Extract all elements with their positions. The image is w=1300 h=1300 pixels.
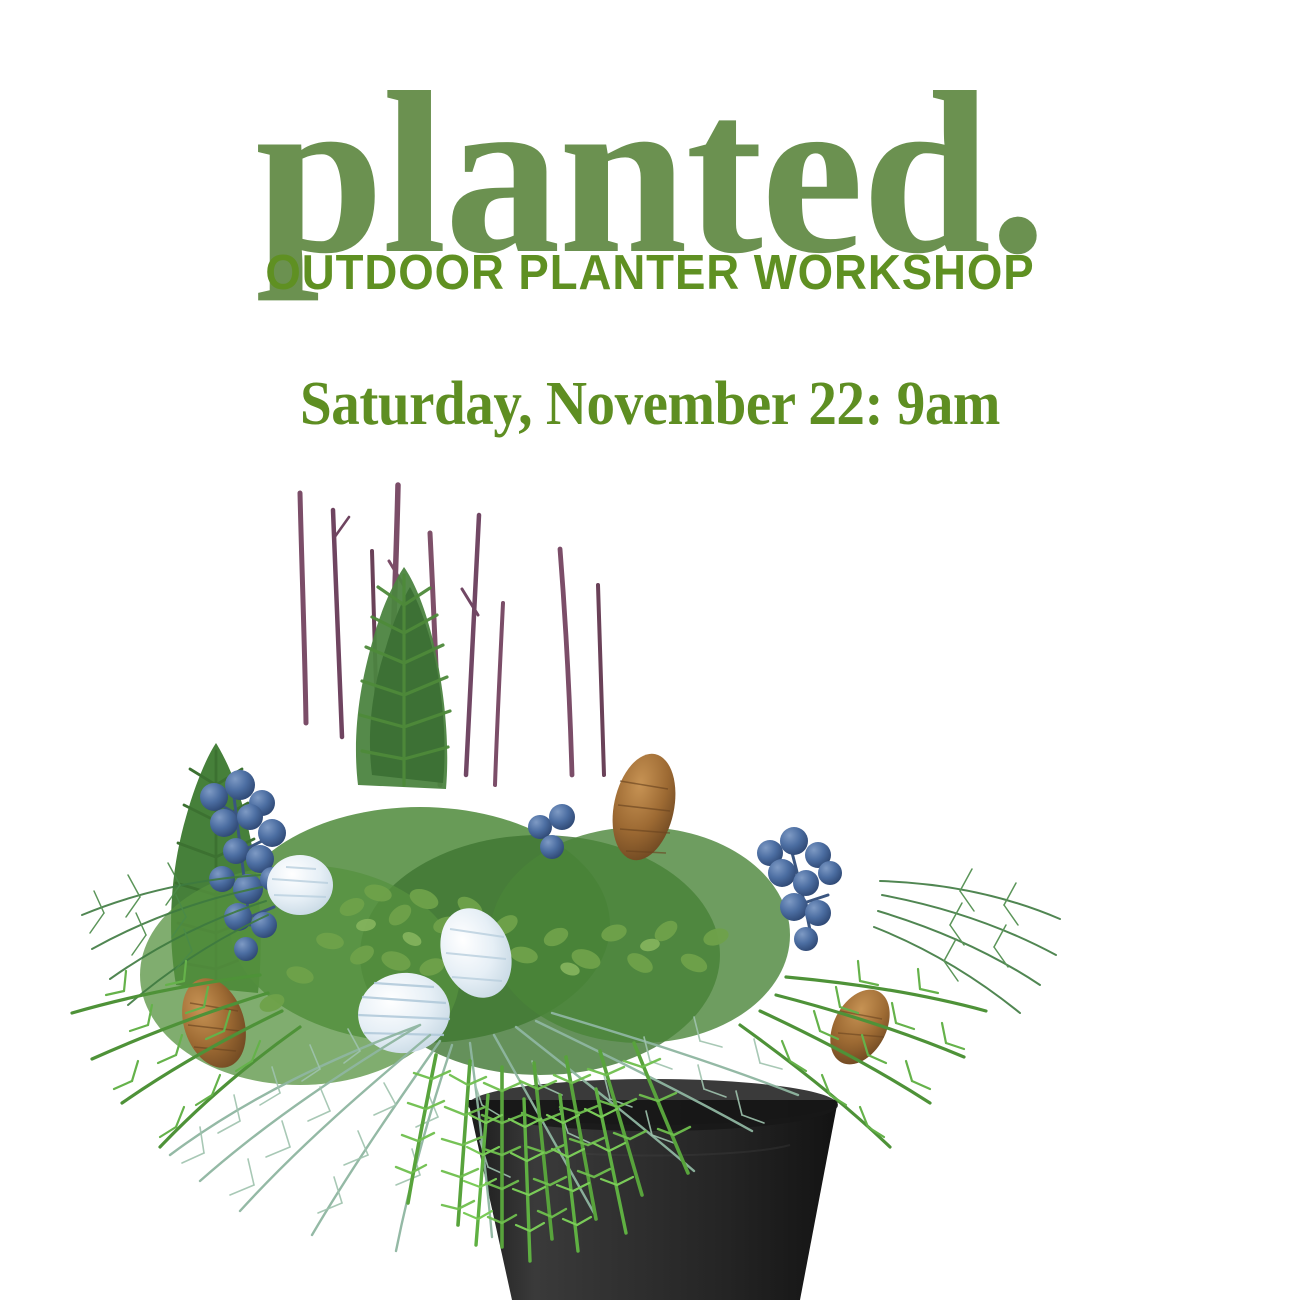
poster-canvas: planted. OUTDOOR PLANTER WORKSHOP Saturd…	[0, 0, 1300, 1300]
pinecone-painted-small	[267, 855, 333, 915]
event-date-line: Saturday, November 22: 9am	[52, 373, 1248, 435]
planter-photograph	[0, 455, 1300, 1300]
brand-subtitle: OUTDOOR PLANTER WORKSHOP	[46, 249, 1255, 298]
brand-logo-block: planted. OUTDOOR PLANTER WORKSHOP	[0, 0, 1300, 330]
